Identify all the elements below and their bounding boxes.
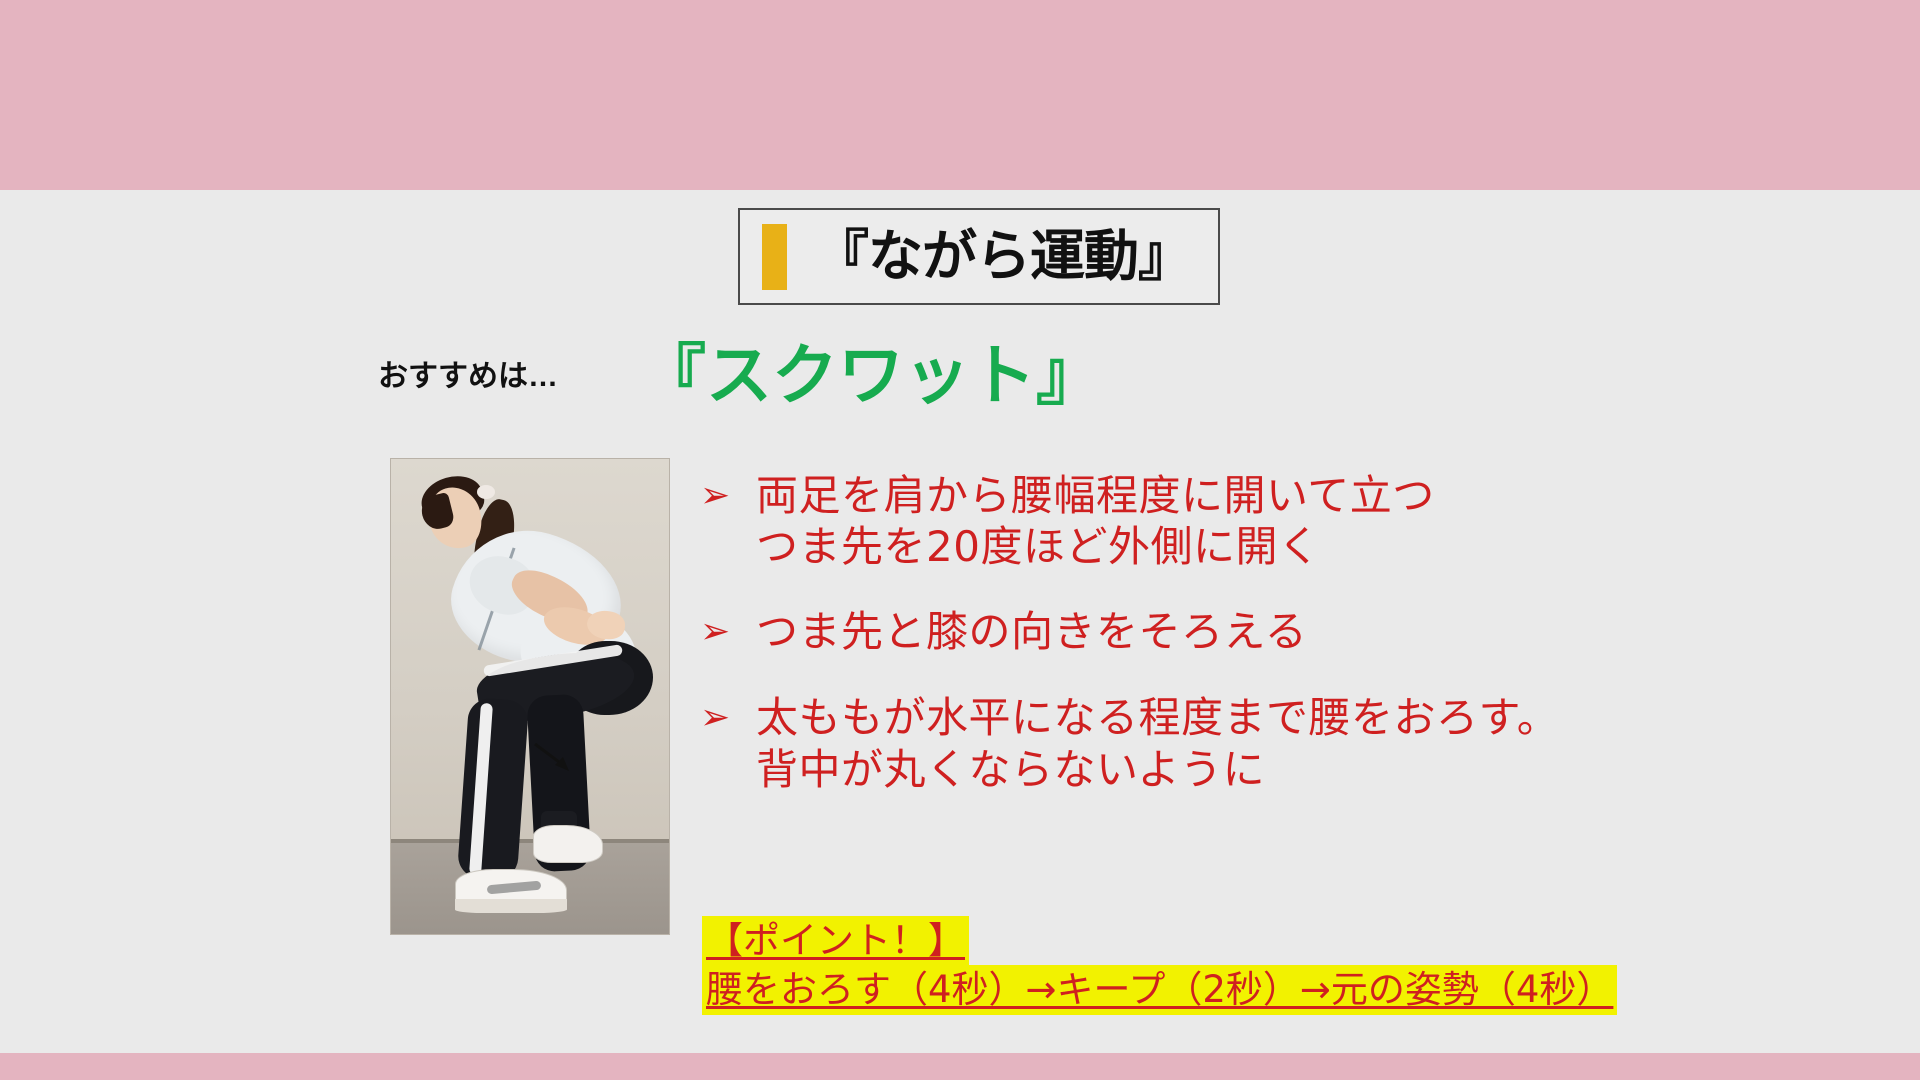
arrow-bullet-icon: ➢ <box>700 470 756 522</box>
arrow-bullet-icon: ➢ <box>700 606 756 658</box>
point-heading: 【ポイント！】 <box>702 916 969 965</box>
point-callout: 【ポイント！】 腰をおろす（4秒）→キープ（2秒）→元の姿勢（4秒） <box>702 916 1617 1015</box>
list-item: ➢ 太ももが水平になる程度まで腰をおろす。 背中が丸くならないように <box>700 692 1800 794</box>
instruction-text: 太ももが水平になる程度まで腰をおろす。 背中が丸くならないように <box>756 692 1559 794</box>
instruction-list: ➢ 両足を肩から腰幅程度に開いて立つ つま先を20度ほど外側に開く ➢ つま先と… <box>700 470 1800 829</box>
page-title: 『ながら運動』 <box>814 229 1192 284</box>
list-item: ➢ 両足を肩から腰幅程度に開いて立つ つま先を20度ほど外側に開く <box>700 470 1800 572</box>
instruction-text: つま先と膝の向きをそろえる <box>756 606 1307 657</box>
slide-title-box: 『ながら運動』 <box>738 208 1220 305</box>
squat-demonstration-photo <box>390 458 670 935</box>
list-item: ➢ つま先と膝の向きをそろえる <box>700 606 1800 658</box>
title-accent-bar <box>762 224 787 290</box>
figure-back-shin <box>457 697 529 881</box>
figure-hair-tie <box>477 485 495 499</box>
figure-rear-shoe <box>533 825 603 863</box>
downward-annotation-arrow <box>533 741 573 773</box>
bottom-decorative-band <box>0 1053 1920 1080</box>
recommendation-label: おすすめは… <box>378 362 558 392</box>
top-decorative-band <box>0 0 1920 190</box>
arrow-bullet-icon: ➢ <box>700 692 756 744</box>
recommendation-value: 『スクワット』 <box>640 336 1102 415</box>
point-detail: 腰をおろす（4秒）→キープ（2秒）→元の姿勢（4秒） <box>702 965 1617 1014</box>
instruction-text: 両足を肩から腰幅程度に開いて立つ つま先を20度ほど外側に開く <box>756 470 1435 572</box>
figure-front-shoe-sole <box>455 899 567 913</box>
recommendation-row: おすすめは… 『スクワット』 <box>378 340 1278 430</box>
